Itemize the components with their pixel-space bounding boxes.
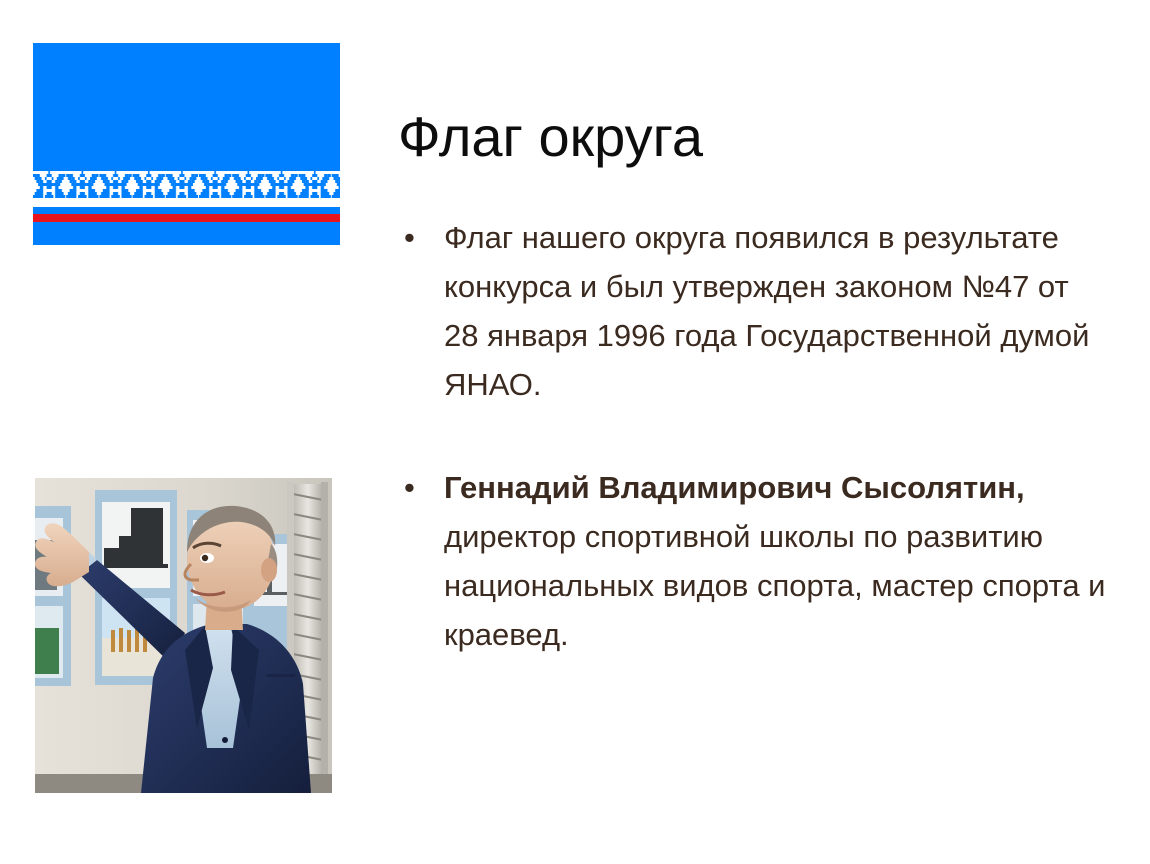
flag-bottom-blue <box>33 222 340 245</box>
flag-red-stripe <box>33 214 340 222</box>
photo-gennady-sysolyatin <box>35 478 332 793</box>
flag-image <box>33 43 340 245</box>
list-item: • Геннадий Владимирович Сысолятин, дирек… <box>398 463 1110 659</box>
bullet-block-1: • Флаг нашего округа появился в результа… <box>398 213 1110 409</box>
ornament-pattern-icon <box>33 171 340 207</box>
bullet-marker-icon: • <box>398 213 444 262</box>
flag-ornament-band <box>33 171 340 207</box>
bullet-text-1: Флаг нашего округа появился в результате… <box>444 213 1110 409</box>
page-title: Флаг округа <box>398 106 1098 168</box>
bullet-marker-icon: • <box>398 463 444 512</box>
person-description: директор спортивной школы по развитию на… <box>444 519 1106 652</box>
list-item: • Флаг нашего округа появился в результа… <box>398 213 1110 409</box>
flag-blue-gap <box>33 207 340 214</box>
person-name: Геннадий Владимирович Сысолятин, <box>444 470 1025 505</box>
slide: Флаг округа • Флаг нашего округа появилс… <box>0 0 1150 864</box>
bullet-text-2: Геннадий Владимирович Сысолятин, директо… <box>444 463 1110 659</box>
bullet-block-2: • Геннадий Владимирович Сысолятин, дирек… <box>398 463 1110 659</box>
photo-illustration <box>35 478 332 793</box>
